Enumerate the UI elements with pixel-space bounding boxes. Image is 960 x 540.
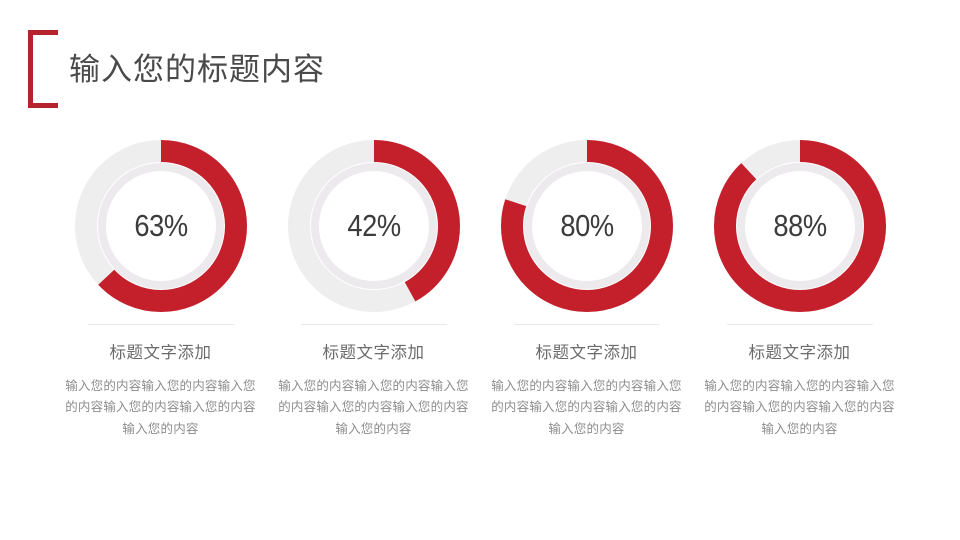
card-heading: 标题文字添加 [749,345,851,362]
slide-title-block: 输入您的标题内容 [28,30,325,108]
card-body-text: 输入您的内容输入您的内容输入您的内容输入您的内容输入您的内容输入您的内容 [489,376,685,441]
card-heading: 标题文字添加 [536,345,638,362]
donut-chart-4: 88% [714,140,886,312]
card-divider [514,324,660,325]
card-heading: 标题文字添加 [110,345,212,362]
donut-percent-label: 42% [298,140,449,312]
page-title: 输入您的标题内容 [69,54,325,85]
card-body-text: 输入您的内容输入您的内容输入您的内容输入您的内容输入您的内容输入您的内容 [702,376,898,441]
bracket-vertical-bar [28,30,33,108]
donut-card: 63% 标题文字添加 输入您的内容输入您的内容输入您的内容输入您的内容输入您的内… [54,140,267,440]
card-divider [301,324,447,325]
donut-percent-label: 88% [724,140,875,312]
donut-percent-label: 63% [85,140,236,312]
card-body-text: 输入您的内容输入您的内容输入您的内容输入您的内容输入您的内容输入您的内容 [63,376,259,441]
card-heading: 标题文字添加 [323,345,425,362]
donut-percent-label: 80% [511,140,662,312]
card-divider [727,324,873,325]
donut-chart-1: 63% [75,140,247,312]
donut-card-row: 63% 标题文字添加 输入您的内容输入您的内容输入您的内容输入您的内容输入您的内… [0,140,960,440]
donut-chart-3: 80% [501,140,673,312]
donut-card: 88% 标题文字添加 输入您的内容输入您的内容输入您的内容输入您的内容输入您的内… [693,140,906,440]
donut-chart-2: 42% [288,140,460,312]
bracket-bottom-arm [28,103,58,108]
donut-card: 42% 标题文字添加 输入您的内容输入您的内容输入您的内容输入您的内容输入您的内… [267,140,480,440]
bracket-top-arm [28,30,58,35]
card-divider [88,324,234,325]
left-bracket-icon [28,30,58,108]
donut-card: 80% 标题文字添加 输入您的内容输入您的内容输入您的内容输入您的内容输入您的内… [480,140,693,440]
card-body-text: 输入您的内容输入您的内容输入您的内容输入您的内容输入您的内容输入您的内容 [276,376,472,441]
